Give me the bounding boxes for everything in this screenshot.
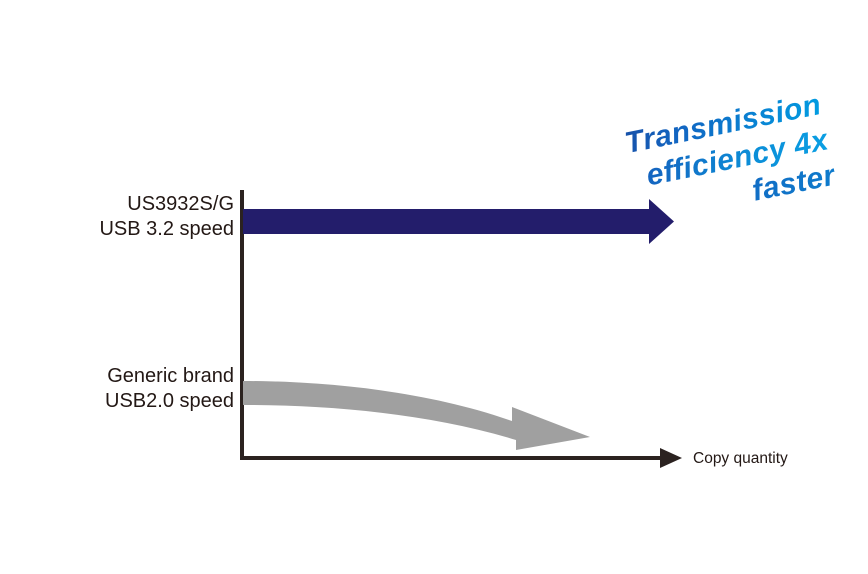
chart-figure: Copy quantity US3932S/G USB 3.2 speed Ge… — [0, 0, 868, 574]
series-label-usb20-line1: Generic brand — [0, 364, 234, 389]
series-label-usb32-line1: US3932S/G — [0, 192, 234, 217]
x-axis-label: Copy quantity — [693, 450, 788, 467]
series-label-usb32: US3932S/G USB 3.2 speed — [0, 192, 234, 242]
series-label-usb20: Generic brand USB2.0 speed — [0, 364, 234, 414]
chart-canvas: Copy quantity — [0, 0, 868, 574]
x-axis-arrowhead-icon — [660, 448, 682, 468]
series-label-usb20-line2: USB2.0 speed — [0, 389, 234, 414]
series-label-usb32-line2: USB 3.2 speed — [0, 217, 234, 242]
usb20-speed-curve — [243, 381, 590, 450]
